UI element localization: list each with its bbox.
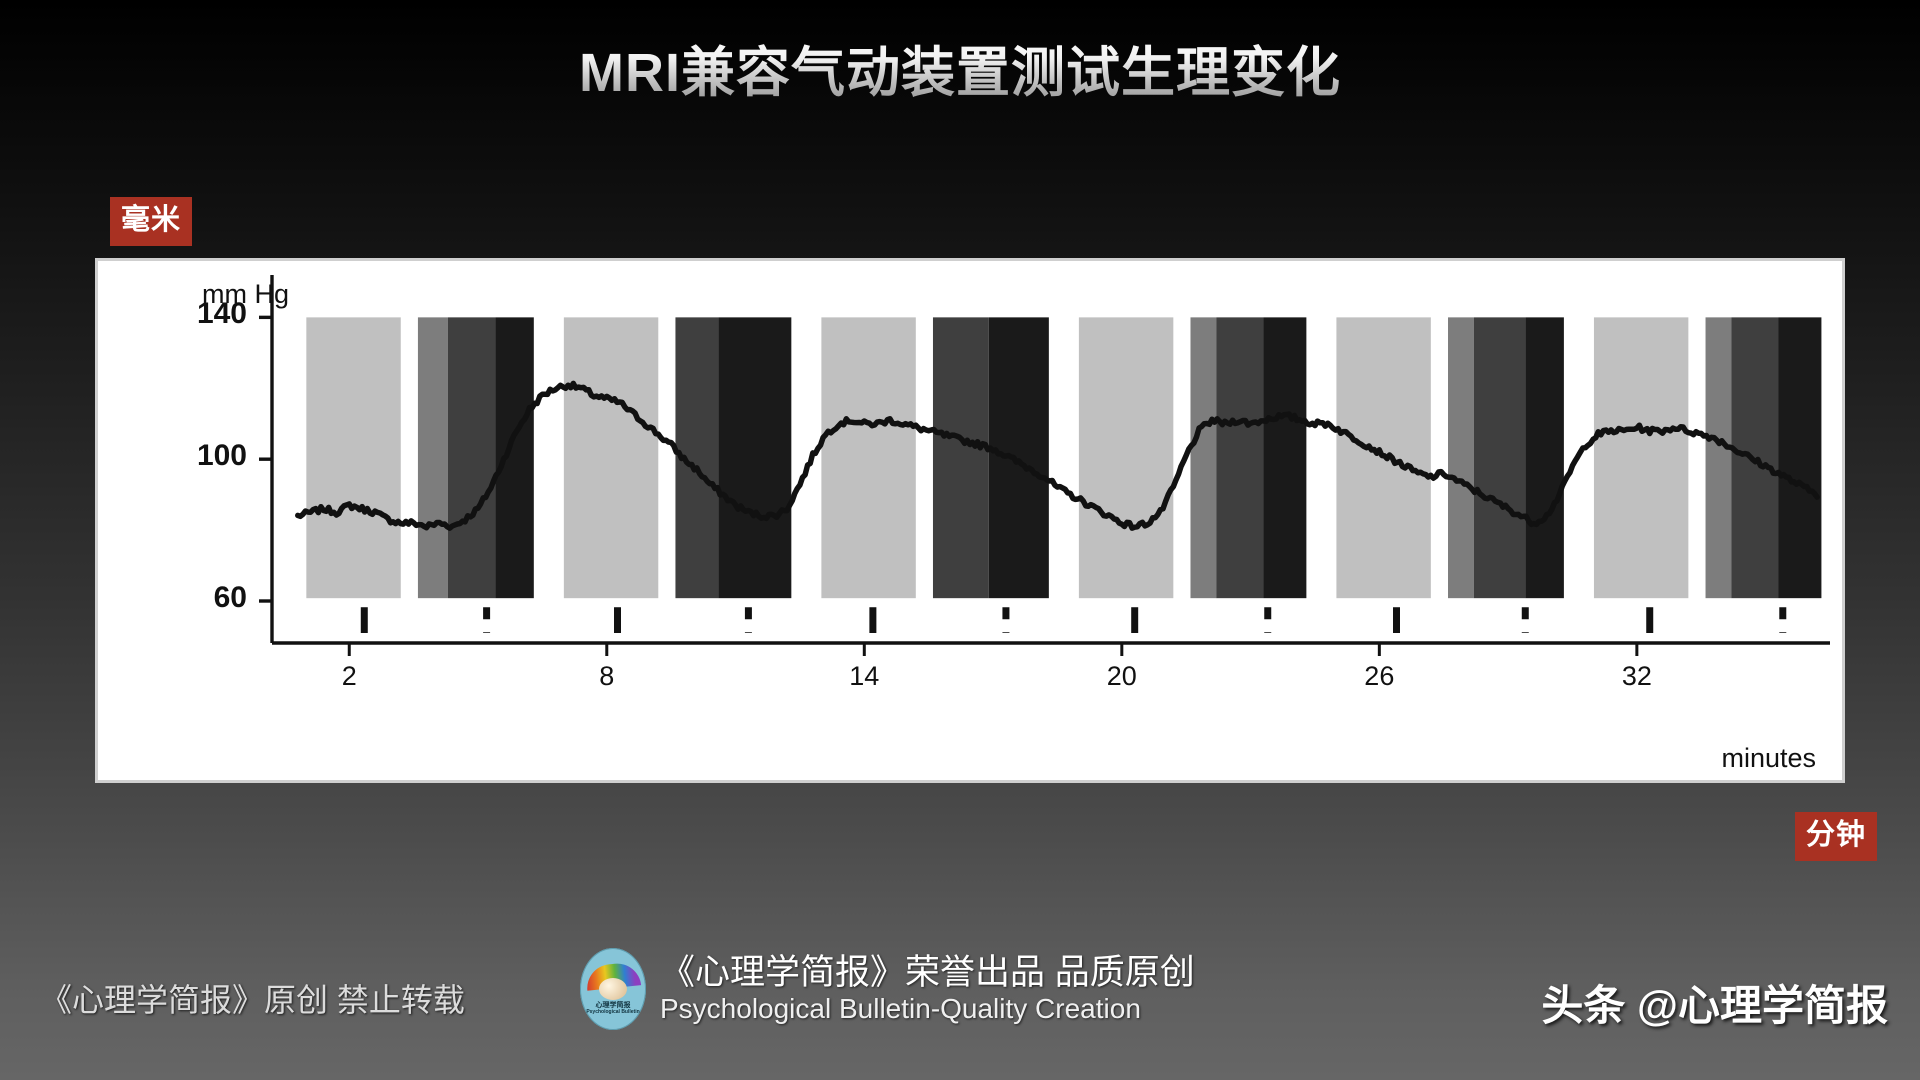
chart-panel: mm Hg minutes 601001402814202632	[95, 258, 1845, 783]
footer-center-block: 心理学简报 Psychological Bulletin 《心理学简报》荣誉出品…	[580, 948, 1340, 1030]
condition-band	[933, 317, 989, 598]
footer-right-text: 头条 @心理学简报	[1541, 972, 1888, 1033]
condition-band	[1594, 317, 1688, 598]
x-axis-tick-label: 20	[1092, 661, 1152, 692]
condition-band	[1448, 317, 1474, 598]
x-axis-tick-label: 14	[834, 661, 894, 692]
condition-band	[1474, 317, 1526, 598]
condition-band	[495, 317, 534, 598]
condition-band	[1525, 317, 1564, 598]
x-axis-unit-badge: 分钟	[1795, 812, 1877, 861]
condition-band	[1778, 317, 1821, 598]
condition-band	[418, 317, 448, 598]
condition-band	[821, 317, 915, 598]
footer-center-cn: 《心理学简报》荣誉出品 品质原创	[660, 953, 1340, 992]
x-axis-tick-label: 8	[577, 661, 637, 692]
slide-canvas: MRI兼容气动装置测试生理变化 毫米 分钟 mm Hg minutes 6010…	[0, 0, 1920, 1080]
logo-icon: 心理学简报 Psychological Bulletin	[580, 948, 646, 1030]
y-axis-tick-label: 100	[177, 439, 247, 473]
x-axis-tick-label: 2	[319, 661, 379, 692]
condition-band	[564, 317, 658, 598]
condition-band	[989, 317, 1049, 598]
chart-plot-area: mm Hg minutes 601001402814202632	[98, 261, 1842, 780]
condition-band	[1079, 317, 1173, 598]
condition-band	[1706, 317, 1732, 598]
x-axis-tick-label: 32	[1607, 661, 1667, 692]
x-axis-tick-label: 26	[1349, 661, 1409, 692]
condition-band	[448, 317, 495, 598]
footer-left-text: 《心理学简报》原创 禁止转载	[40, 975, 465, 1021]
logo-en-text: Psychological Bulletin	[580, 1009, 646, 1015]
condition-band	[718, 317, 791, 598]
x-axis-label: minutes	[1721, 743, 1816, 774]
page-title: MRI兼容气动装置测试生理变化	[0, 28, 1920, 107]
condition-band	[1190, 317, 1216, 598]
condition-band	[306, 317, 400, 598]
condition-band	[1263, 317, 1306, 598]
y-axis-tick-label: 140	[177, 297, 247, 331]
condition-band	[1216, 317, 1263, 598]
physiology-line-chart	[98, 261, 1842, 780]
y-axis-unit-badge: 毫米	[110, 197, 192, 246]
footer-center-en: Psychological Bulletin-Quality Creation	[660, 993, 1340, 1025]
y-axis-tick-label: 60	[177, 581, 247, 615]
